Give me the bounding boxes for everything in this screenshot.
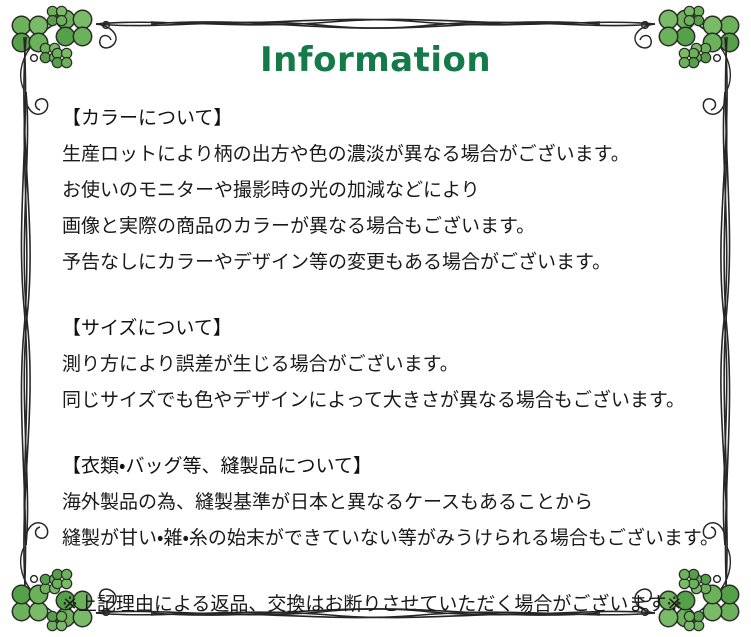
page-title: Information [0,40,751,80]
section-line: 予告なしにカラーやデザイン等の変更もある場合がございます。 [62,244,702,280]
section-heading: 【サイズについて】 [62,310,702,346]
section-size: 【サイズについて】 測り方により誤差が生じる場合がございます。 同じサイズでも色… [62,310,702,418]
footer-note-text: ※上記理由による返品、交換はお断りさせていただく場合がございます※ [62,586,702,622]
section-heading: 【カラーについて】 [62,100,702,136]
section-line: 縫製が甘い・雑・糸の始末ができていない等がみうけられる場合もございます。 [62,520,702,556]
section-line: 測り方により誤差が生じる場合がございます。 [62,346,702,382]
section-color: 【カラーについて】 生産ロットにより柄の出方や色の濃淡が異なる場合がございます。… [62,100,702,280]
footer-note: ※上記理由による返品、交換はお断りさせていただく場合がございます※ [62,586,702,622]
section-line: お使いのモニターや撮影時の光の加減などにより [62,172,702,208]
section-line: 海外製品の為、縫製基準が日本と異なるケースもあることから [62,484,702,520]
section-heading: 【衣類・バッグ等、縫製品について】 [62,448,702,484]
section-line: 生産ロットにより柄の出方や色の濃淡が異なる場合がございます。 [62,136,702,172]
section-line: 同じサイズでも色やデザインによって大きさが異なる場合もございます。 [62,382,702,418]
information-panel: Information 【カラーについて】 生産ロットにより柄の出方や色の濃淡が… [0,0,751,637]
section-sewn-products: 【衣類・バッグ等、縫製品について】 海外製品の為、縫製基準が日本と異なるケースも… [62,448,702,556]
information-body: 【カラーについて】 生産ロットにより柄の出方や色の濃淡が異なる場合がございます。… [62,100,702,622]
section-line: 画像と実際の商品のカラーが異なる場合もございます。 [62,208,702,244]
